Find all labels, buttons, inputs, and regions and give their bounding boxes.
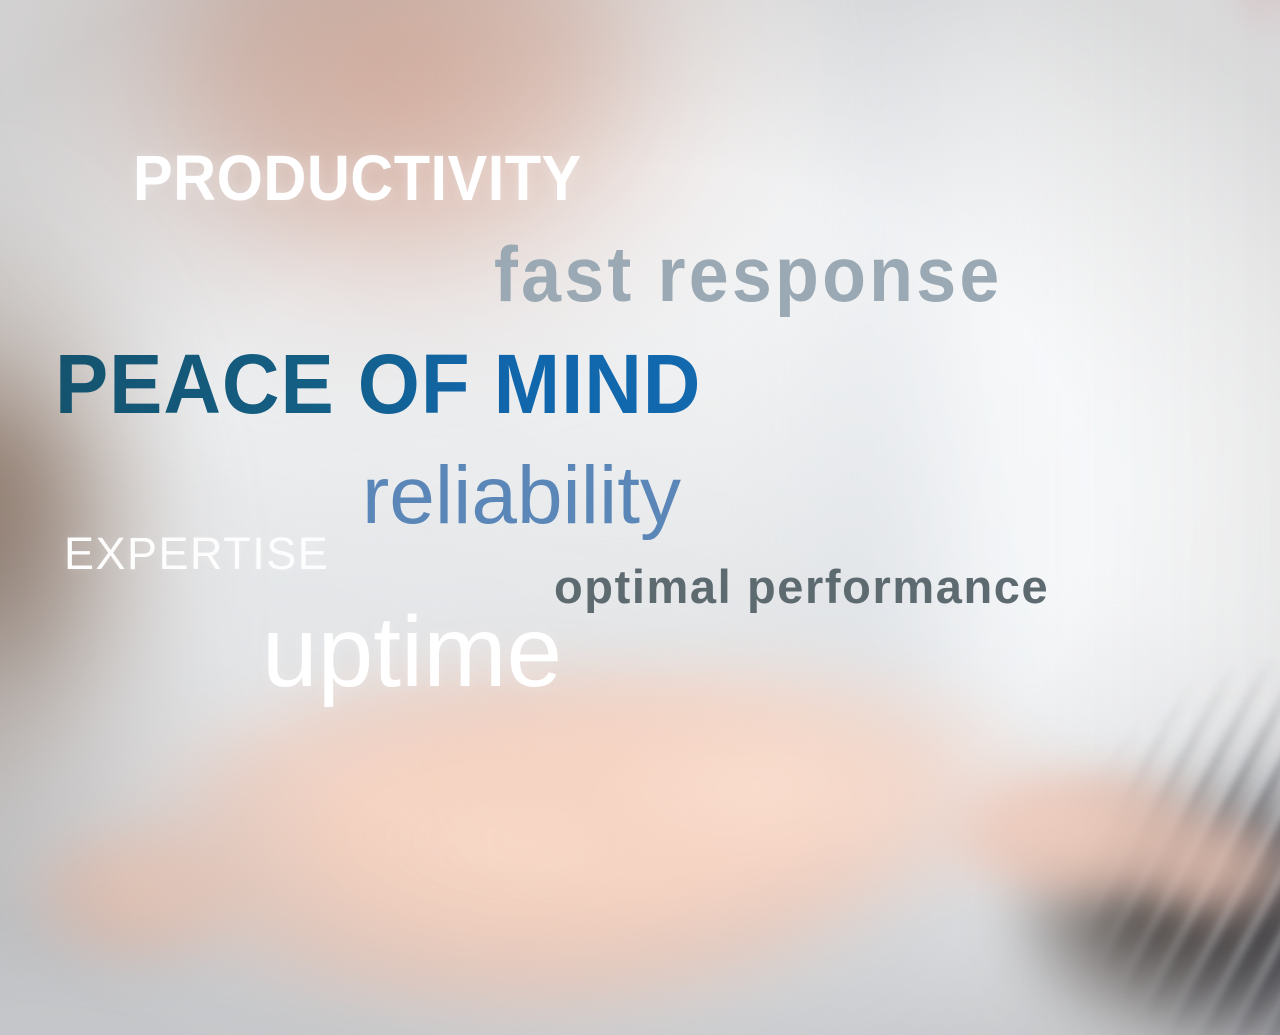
- word-optimal-performance: optimal performance: [554, 563, 1049, 610]
- word-uptime: uptime: [262, 602, 562, 702]
- word-fast-response: fast response: [494, 235, 1002, 313]
- word-productivity: PRODUCTIVITY: [133, 146, 582, 210]
- word-peace-of-mind: PEACE OF MIND: [55, 342, 701, 426]
- word-reliability: reliability: [362, 455, 681, 537]
- hero-image-canvas: PRODUCTIVITY fast response PEACE OF MIND…: [0, 0, 1280, 1035]
- word-expertise: EXPERTISE: [64, 531, 329, 576]
